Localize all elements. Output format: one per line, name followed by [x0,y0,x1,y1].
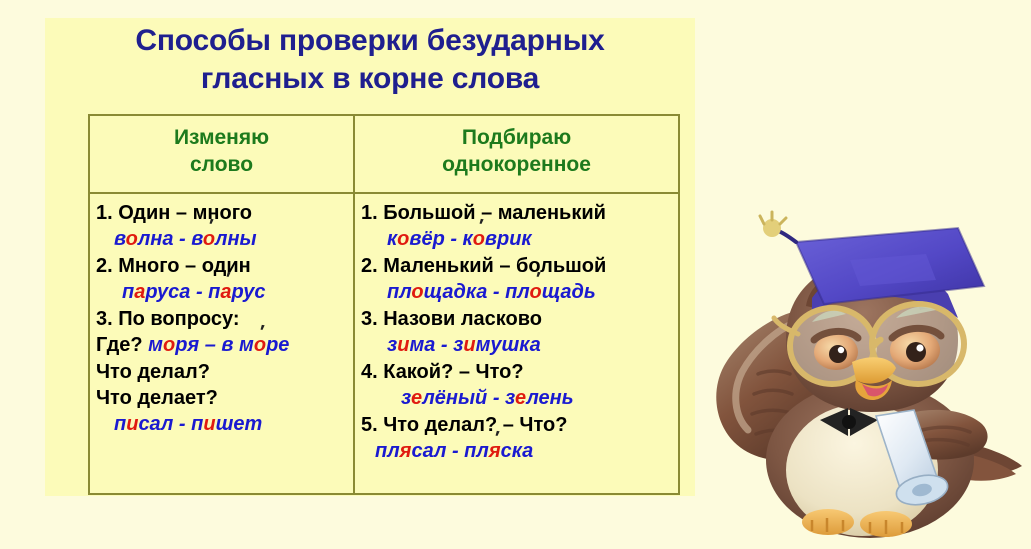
example-word-pair: паруса - парус [96,279,349,306]
table-header-row: Изменяю слово Подбираю однокоренное [90,116,678,194]
example-text: в [114,228,126,250]
example-word-pair: моря – в море [148,334,289,356]
highlighted-vowel: о [411,281,423,303]
rule-prompt: Что делает? [96,385,349,411]
table-header-right-line-2: однокоренное [355,151,678,178]
example-text: лна - в [138,228,203,250]
highlighted-vowel: е [515,387,526,409]
example-text: пл [375,440,400,462]
stressed-vowel: я [489,440,501,462]
example-text: лёный - з [422,387,515,409]
highlighted-vowel: о [397,228,409,250]
example-text: сал - пл [411,440,488,462]
owl-scholar-illustration [700,198,1031,549]
stressed-vowel: о [529,281,541,303]
table-body-row: 1. Один – многоволна - волны2. Много – о… [90,194,678,493]
example-text: ря – в м [175,334,254,356]
rule-prompt-prefix: Где? [96,334,148,356]
highlighted-vowel: и [126,413,138,435]
example-text: ма - з [409,334,463,356]
highlighted-vowel: а [134,281,145,303]
example-text: ска [501,440,534,462]
page-title-line-1: Способы проверки безударных [45,22,695,60]
example-text: руса - п [145,281,220,303]
stressed-vowel: о [203,228,215,250]
highlighted-vowel: и [397,334,409,356]
example-text: врик [485,228,532,250]
example-text: к [387,228,397,250]
example-text: сал - п [138,413,203,435]
rule-prompt: 4. Какой? – Что? [361,359,674,385]
rule-prompt: 1. Большой – маленький [361,200,674,226]
stressed-vowel: а [220,281,231,303]
example-word-pair: ковёр - коврик [361,226,674,253]
table-cell-left: 1. Один – многоволна - волны2. Много – о… [90,194,353,493]
rule-prompt: 2. Маленький – большой [361,253,674,279]
example-word-pair: писал - пишет [96,411,349,438]
example-text: шет [216,413,263,435]
table-cell-right: 1. Большой – маленькийковёр - коврик2. М… [353,194,678,493]
methods-table: Изменяю слово Подбираю однокоренное 1. О… [88,114,680,495]
table-header-left-line-2: слово [90,151,353,178]
example-text: м [148,334,163,356]
example-text: п [122,281,134,303]
example-text: вёр - к [409,228,472,250]
example-text: лень [526,387,573,409]
example-text: лны [215,228,257,250]
rule-prompt: 3. Назови ласково [361,306,674,332]
rule-prompt-with-example: Где? моря – в море [96,332,349,359]
example-text: з [387,334,397,356]
example-text: з [401,387,411,409]
example-word-pair: волна - волны [96,226,349,253]
highlighted-vowel: о [126,228,138,250]
highlighted-vowel: и [463,334,475,356]
highlighted-vowel: я [400,440,412,462]
page-title: Способы проверки безударных гласных в ко… [45,22,695,98]
highlighted-vowel: о [163,334,175,356]
rule-prompt: Что делал? [96,359,349,385]
example-text: мушка [476,334,541,356]
example-word-pair: плясал - пляска [361,438,674,465]
example-text: щадь [542,281,596,303]
table-header-left-line-1: Изменяю [90,124,353,151]
highlighted-vowel: е [411,387,422,409]
example-text: ре [266,334,289,356]
table-header-right-line-1: Подбираю [355,124,678,151]
rule-prompt: 1. Один – много [96,200,349,226]
rule-prompt: 3. По вопросу: [96,306,349,332]
example-word-pair: зима - зимушка [361,332,674,359]
example-word-pair: площадка - площадь [361,279,674,306]
example-text: рус [232,281,266,303]
table-header-left: Изменяю слово [90,116,353,192]
stressed-vowel: о [254,334,266,356]
example-text: щадка - пл [424,281,530,303]
stressed-vowel: о [473,228,485,250]
example-word-pair: зелёный - зелень [361,385,674,412]
rule-prompt: 2. Много – один [96,253,349,279]
highlighted-vowel: и [203,413,215,435]
example-text: п [114,413,126,435]
table-header-right: Подбираю однокоренное [353,116,678,192]
page-title-line-2: гласных в корне слова [45,60,695,98]
rule-prompt: 5. Что делал? – Что? [361,412,674,438]
example-text: пл [387,281,411,303]
